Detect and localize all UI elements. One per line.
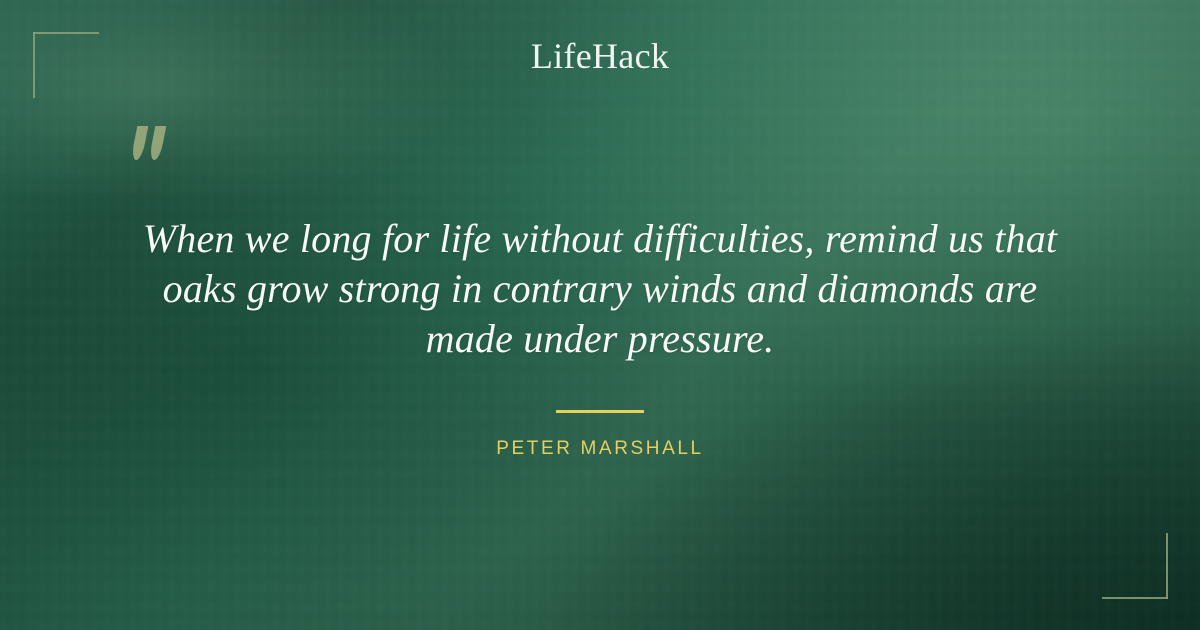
brand-logo: LifeHack (0, 38, 1200, 74)
corner-line-vertical (1166, 533, 1168, 599)
quote-line: When we long for life without difficulti… (100, 214, 1100, 264)
quote-stroke-left (131, 126, 149, 160)
corner-line-horizontal (1102, 597, 1168, 599)
corner-bracket-bottom-right (1102, 533, 1168, 599)
quote-author: PETER MARSHALL (0, 438, 1200, 460)
quote-text: When we long for life without difficulti… (100, 214, 1100, 364)
quote-stroke-right (149, 126, 167, 160)
quote-line: made under pressure. (100, 314, 1100, 364)
quote-card: LifeHack When we long for life without d… (0, 0, 1200, 630)
quotation-mark-icon (128, 126, 188, 186)
corner-line-horizontal (33, 32, 99, 34)
divider-rule (556, 410, 644, 413)
quote-line: oaks grow strong in contrary winds and d… (100, 264, 1100, 314)
